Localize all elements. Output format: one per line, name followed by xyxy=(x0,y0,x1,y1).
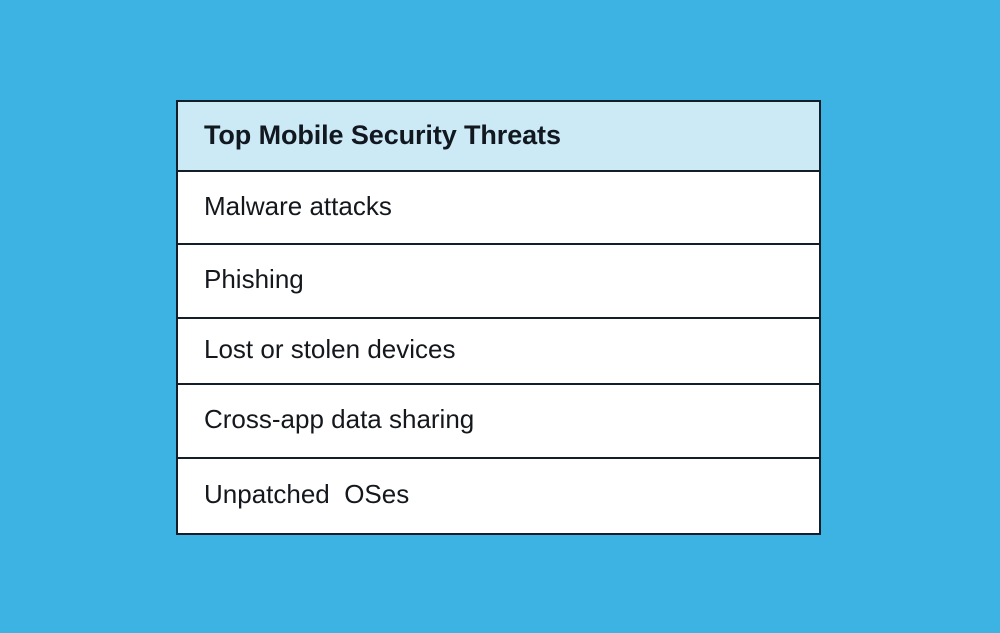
table-header-row: Top Mobile Security Threats xyxy=(178,102,819,172)
table-cell-threat-2: Phishing xyxy=(204,265,304,295)
table-cell-threat-1: Malware attacks xyxy=(204,192,392,222)
page-canvas: Top Mobile Security Threats Malware atta… xyxy=(0,0,1000,633)
table-body: Malware attacks Phishing Lost or stolen … xyxy=(178,172,819,533)
table-row: Lost or stolen devices xyxy=(178,319,819,385)
table-row: Malware attacks xyxy=(178,172,819,245)
table-cell-threat-4: Cross-app data sharing xyxy=(204,405,474,435)
table-cell-threat-5: Unpatched OSes xyxy=(204,480,409,510)
table-cell-threat-3: Lost or stolen devices xyxy=(204,335,455,365)
table-row: Unpatched OSes xyxy=(178,459,819,533)
table-row: Cross-app data sharing xyxy=(178,385,819,459)
threats-table: Top Mobile Security Threats Malware atta… xyxy=(176,100,821,535)
table-header-label: Top Mobile Security Threats xyxy=(204,121,561,151)
table-row: Phishing xyxy=(178,245,819,319)
